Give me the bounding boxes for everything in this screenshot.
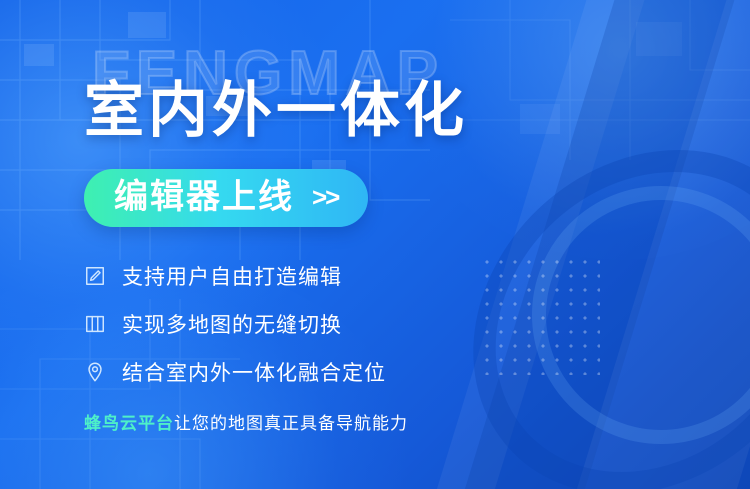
book-map-icon xyxy=(84,313,106,335)
edit-square-icon xyxy=(84,265,106,287)
chevron-double-right-icon: >> xyxy=(312,184,338,210)
cta-button[interactable]: 编辑器上线 >> xyxy=(84,169,368,227)
tagline-rest: 让您的地图真正具备导航能力 xyxy=(174,414,408,434)
cta-label: 编辑器上线 xyxy=(114,180,294,214)
list-item: 实现多地图的无缝切换 xyxy=(84,309,644,339)
location-pin-icon xyxy=(84,361,106,383)
tagline: 蜂鸟云平台让您的地图真正具备导航能力 xyxy=(84,409,644,434)
promo-banner: FENGMAP 室内外一体化 编辑器上线 >> 支持用户自由打造编辑 xyxy=(0,0,750,489)
feature-label: 结合室内外一体化融合定位 xyxy=(122,357,386,387)
list-item: 支持用户自由打造编辑 xyxy=(84,261,644,291)
banner-content: 室内外一体化 编辑器上线 >> 支持用户自由打造编辑 xyxy=(0,0,644,434)
brand-name: 蜂鸟云平台 xyxy=(84,414,174,434)
feature-label: 支持用户自由打造编辑 xyxy=(122,261,342,291)
feature-label: 实现多地图的无缝切换 xyxy=(122,309,342,339)
feature-list: 支持用户自由打造编辑 实现多地图的无缝切换 xyxy=(84,261,644,387)
page-title: 室内外一体化 xyxy=(84,80,644,143)
list-item: 结合室内外一体化融合定位 xyxy=(84,357,644,387)
